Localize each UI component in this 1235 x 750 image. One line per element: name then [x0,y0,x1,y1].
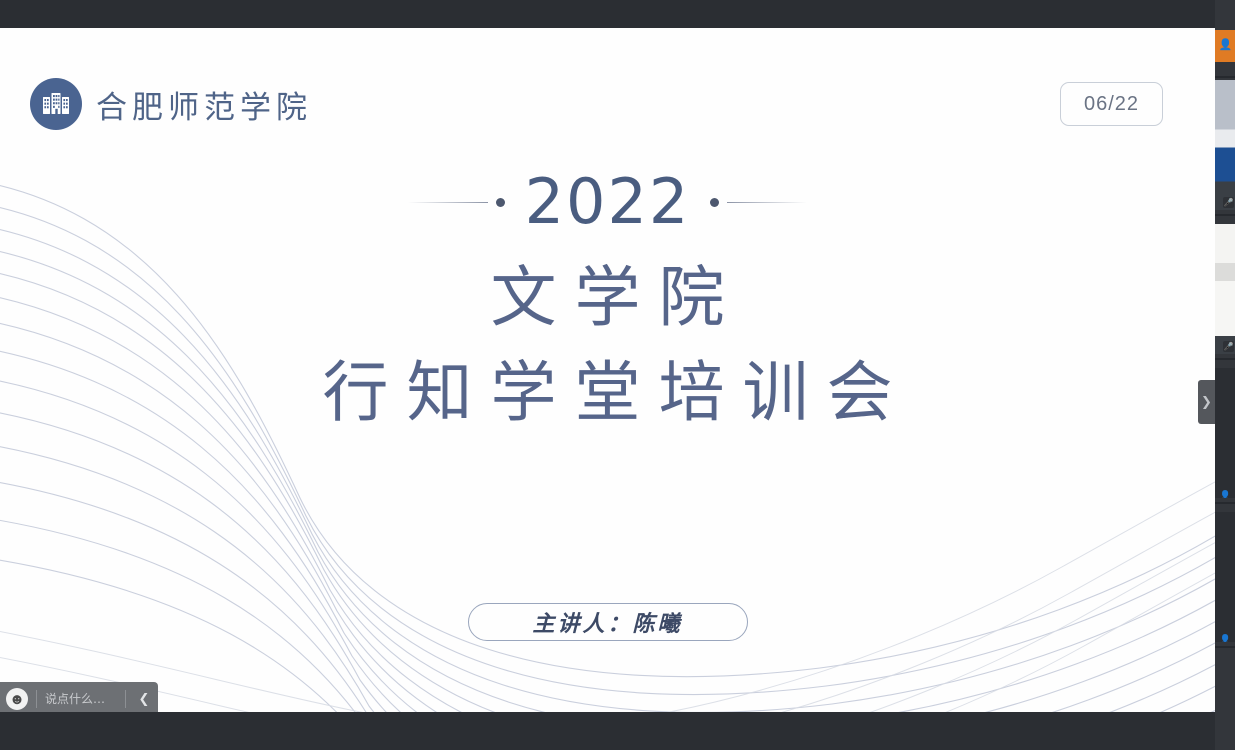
chevron-left-icon[interactable]: ❮ [134,688,154,710]
rail-divider [1215,76,1235,78]
meeting-window: 合肥师范学院 06/22 2022 文学院 行知学堂培训会 主讲人：陈曦 [0,0,1235,750]
slide-title-block: 文学院 行知学堂培训会 [0,256,1215,434]
microphone-icon: 🎤 [1223,197,1234,208]
slide-page-badge: 06/22 [1060,82,1163,126]
slide-year: 2022 [525,171,691,233]
rail-divider [1215,502,1235,504]
brand-name: 合肥师范学院 [96,82,312,127]
rule-right [710,198,807,207]
university-building-icon [30,78,82,130]
video-thumbnail [1215,368,1235,498]
chat-composer[interactable]: ☻ ❮ [0,682,158,716]
video-thumbnail [1215,80,1235,210]
person-icon: 👤 [1217,486,1234,498]
participant-tile-3[interactable]: 🎤 [1215,224,1235,354]
video-thumbnail [1215,224,1235,354]
composer-divider-left [36,690,37,708]
speaker-badge: 主讲人：陈曦 [468,603,748,641]
person-icon: 👤 [1217,36,1234,55]
slide-title-line-2: 行知学堂培训会 [0,351,1215,434]
chevron-right-icon[interactable]: ❯ [1198,380,1215,424]
rule-left [408,198,505,207]
participant-tile-2[interactable]: 🎤 [1215,80,1235,210]
window-bottom-bar [0,712,1215,750]
slide-title-line-1: 文学院 [0,256,1215,339]
chat-message-input[interactable] [45,692,117,706]
participant-tile-4[interactable]: 👤 [1215,368,1235,498]
rule-line-left [408,202,488,203]
building-glyph [42,92,70,116]
participant-tile-1[interactable]: 👤 [1215,30,1235,62]
composer-collapse-glyph: ❮ [139,691,150,707]
rule-dot-right [710,198,719,207]
rail-divider [1215,214,1235,216]
shared-slide-stage[interactable]: 合肥师范学院 06/22 2022 文学院 行知学堂培训会 主讲人：陈曦 [0,28,1215,712]
rail-divider [1215,358,1235,360]
composer-divider-right [125,690,126,708]
year-decoration-row: 2022 [0,171,1215,233]
stage-handle-glyph: ❯ [1201,394,1212,410]
speaker-label: 主讲人：陈曦 [532,606,682,638]
participant-rail[interactable]: 👤 🎤 🎤 👤 👤 [1215,0,1235,750]
brand-lockup: 合肥师范学院 [30,78,312,130]
rule-line-right [727,202,807,203]
video-thumbnail [1215,512,1235,642]
window-top-bar [0,0,1215,28]
rule-dot-left [496,198,505,207]
participant-tile-5[interactable]: 👤 [1215,512,1235,642]
smiley-face-icon[interactable]: ☻ [6,688,28,710]
person-icon: 👤 [1217,630,1234,642]
microphone-icon: 🎤 [1223,341,1234,352]
rail-divider [1215,646,1235,648]
slide-page-label: 06/22 [1084,93,1139,116]
